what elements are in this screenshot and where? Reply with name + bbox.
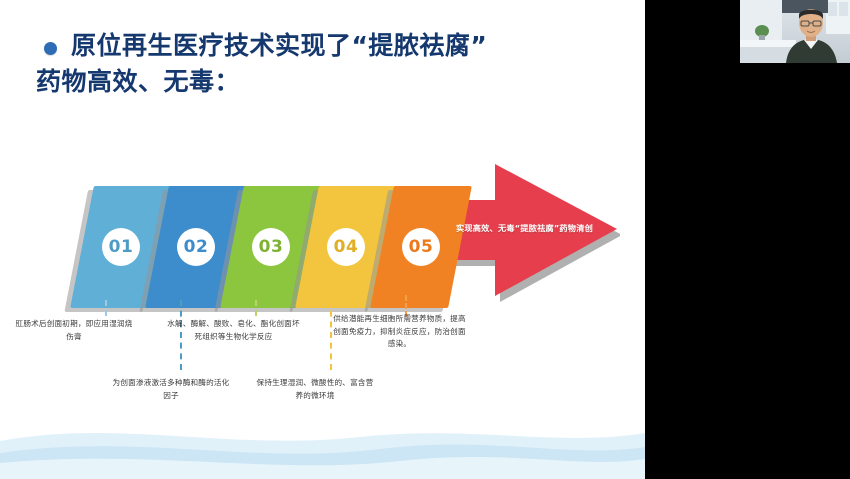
caption-step-05: 供给潜能再生细胞所需营养物质，提高创面免疫力，抑制炎症反应，防治创面感染。 xyxy=(332,313,467,351)
presentation-slide: 原位再生医疗技术实现了“提脓祛腐” 药物高效、无毒： 01 02 03 xyxy=(0,0,645,479)
connector-dash-03 xyxy=(255,300,257,316)
title-text-line-1: 原位再生医疗技术实现了“提脓祛腐” xyxy=(71,28,487,64)
connector-dash-01 xyxy=(105,300,107,316)
step-number-02: 02 xyxy=(177,228,215,266)
caption-step-01: 肛肠术后创面初期，即应用湿润烧伤膏 xyxy=(14,318,134,343)
participant-video-image xyxy=(740,0,850,63)
title-text-line-2: 药物高效、无毒： xyxy=(36,64,240,100)
caption-step-04: 保持生理湿润、微酸性的、富含营养的微环境 xyxy=(256,377,374,402)
screen-share-view: 原位再生医疗技术实现了“提脓祛腐” 药物高效、无毒： 01 02 03 xyxy=(0,0,850,479)
letterbox-background xyxy=(645,0,850,479)
participant-video-tile[interactable] xyxy=(740,0,850,63)
title-line-1: 原位再生医疗技术实现了“提脓祛腐” xyxy=(36,28,636,64)
title-line-2: 药物高效、无毒： xyxy=(36,64,636,100)
decorative-wave xyxy=(0,389,645,479)
bullet-dot-icon xyxy=(44,42,57,55)
step-number-01: 01 xyxy=(102,228,140,266)
caption-step-03: 水解、酶解、酸败、皂化、酯化创面坏死组织等生物化学反应 xyxy=(166,318,301,343)
step-number-05: 05 xyxy=(402,228,440,266)
caption-step-02: 为创面渗液激活多种酶和酶的活化因子 xyxy=(112,377,230,402)
step-number-03: 03 xyxy=(252,228,290,266)
arrow-label-text: 实现高效、无毒“提脓祛腐”药物清创 xyxy=(456,222,626,234)
page-title: 原位再生医疗技术实现了“提脓祛腐” 药物高效、无毒： xyxy=(36,28,636,99)
step-number-04: 04 xyxy=(327,228,365,266)
